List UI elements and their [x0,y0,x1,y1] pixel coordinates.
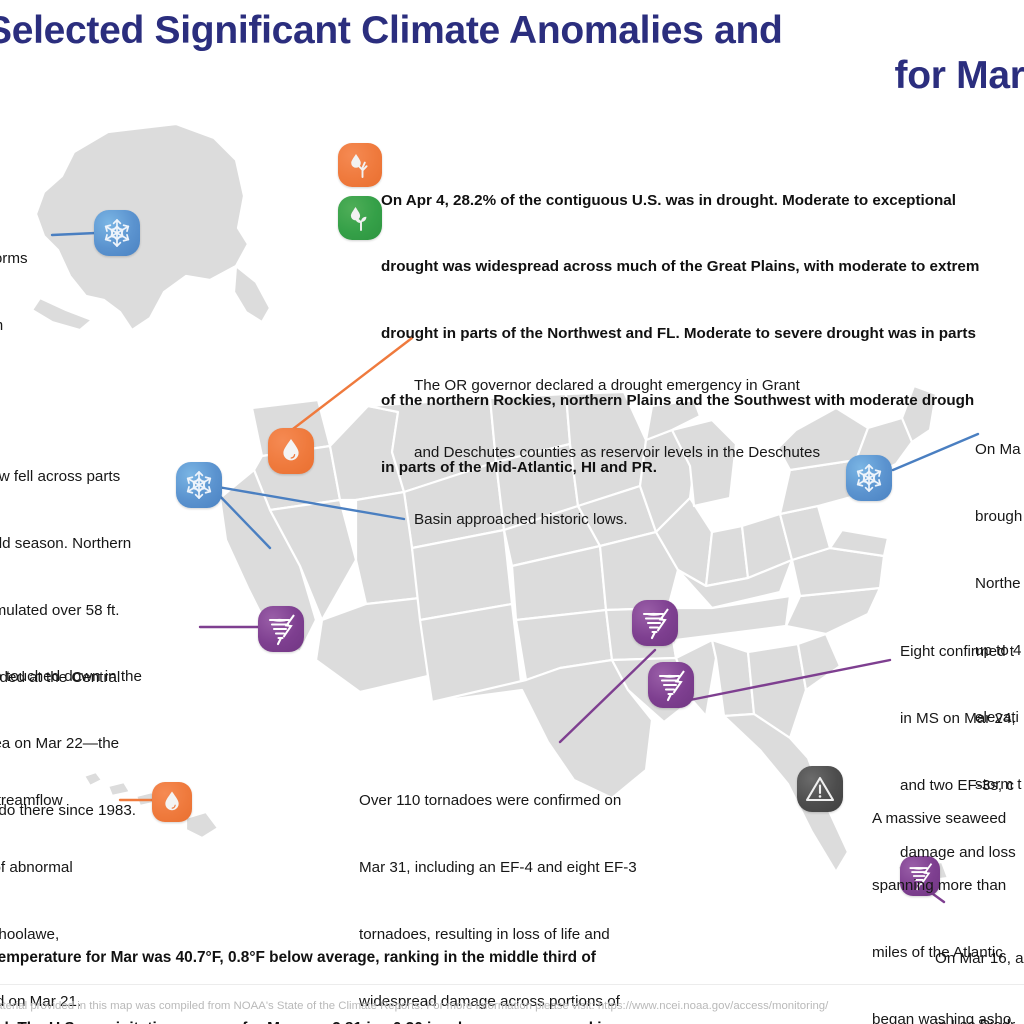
connector-mississippi [690,660,890,700]
drought-line: On Apr 4, 28.2% of the contiguous U.S. w… [381,190,1024,212]
connector-sierra-a [216,492,270,548]
callout-line: On Ma [975,439,1022,461]
drought-line: drought was widespread across much of th… [381,256,1024,278]
connector-alaska [52,233,96,235]
title-line-2: for Marc [0,53,1024,98]
drought-droplet-tree-icon [338,143,382,187]
callout-line: Northe [975,573,1022,595]
drought-droplet-icon-oregon[interactable] [268,428,314,474]
snowflake-icon-alaska[interactable] [94,210,140,256]
callout-line: and Deschutes counties as reservoir leve… [414,442,820,464]
snowflake-icon-northeast[interactable] [846,455,892,501]
callout-line: Basin approached historic lows. [414,509,820,531]
callout-line: brough [975,506,1022,528]
title-line-1: Selected Significant Climate Anomalies a… [0,8,1024,53]
tornado-icon-midwest[interactable] [632,600,678,646]
warning-triangle-icon-seaweed[interactable] [797,766,843,812]
footnote-source: e: Material provided in this map was com… [0,999,1024,1014]
drought-droplet-sprout-icon [338,196,382,240]
footer-divider [0,984,1024,985]
callout-line: e cold season. Northern [0,533,131,555]
callout-line: Over 110 tornadoes were confirmed on [359,790,637,812]
callout-alaska-storms: le storms tation AK. [0,203,28,449]
callout-line: tation [0,315,28,337]
callout-line: nado touched down in the [0,666,142,688]
tornado-icon-mississippi[interactable] [648,662,694,708]
callout-line: Eight confirmed t [900,641,1016,663]
callout-line: spanning more than [872,875,1011,897]
summary-line: . temperature for Mar was 40.7°F, 0.8°F … [0,946,1024,970]
callout-line: The OR governor declared a drought emerg… [414,375,820,397]
callout-line: Mar 31, including an EF-4 and eight EF-3 [359,857,637,879]
callout-line: le storms [0,248,28,270]
snowflake-icon-sierra[interactable] [176,462,222,508]
callout-line: ccumulated over 58 ft. [0,600,131,622]
summary-line: ord. The U.S. precipitation average for … [0,1017,1024,1024]
callout-line: snow fell across parts [0,466,131,488]
callout-line: AK. [0,382,28,404]
connector-sierra-b [218,487,404,519]
callout-line: ion of abnormal [0,857,81,879]
connector-midwest-tornado [560,650,655,742]
callout-line: A massive seaweed [872,808,1011,830]
tornado-icon-california[interactable] [258,606,304,652]
callout-line: ed streamflow [0,790,81,812]
drought-droplet-icon-hawaii[interactable] [152,782,192,822]
page-title: Selected Significant Climate Anomalies a… [0,8,1024,98]
callout-line: in MS on Mar 24, [900,708,1016,730]
callout-oregon-drought: The OR governor declared a drought emerg… [414,330,820,576]
